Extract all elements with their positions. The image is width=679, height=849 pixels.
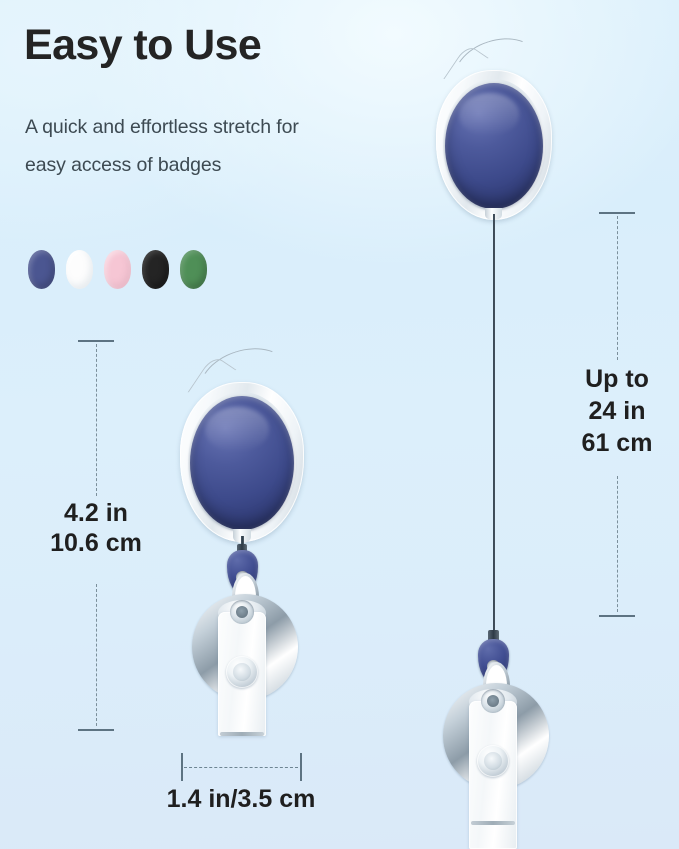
width-measurement-guide	[181, 767, 301, 768]
height-guide-cap-bottom	[78, 729, 114, 731]
clip-bottom-lip	[471, 821, 515, 825]
retractable-cord	[493, 214, 495, 638]
clip-bottom-lip	[220, 732, 264, 736]
page-subtitle: A quick and effortless stretch for easy …	[25, 108, 305, 184]
color-swatch-pink[interactable]	[104, 250, 131, 289]
reel-body-lens	[445, 83, 543, 209]
height-guide-line-lower	[96, 584, 97, 726]
color-swatch-green[interactable]	[180, 250, 207, 289]
color-swatch-black[interactable]	[142, 250, 169, 289]
height-label-inches: 4.2 in	[16, 498, 176, 528]
height-guide-line-upper	[96, 344, 97, 496]
lens-highlight	[459, 93, 520, 136]
height-measurement-label: 4.2 in 10.6 cm	[16, 498, 176, 558]
width-guide-cap-left	[181, 753, 183, 781]
extension-guide-cap-bottom	[599, 615, 635, 617]
width-guide-cap-right	[300, 753, 302, 781]
height-guide-cap-top	[78, 340, 114, 342]
clip-rivet-inner	[233, 663, 251, 681]
product-infographic: Easy to Use A quick and effortless stret…	[0, 0, 679, 849]
clip-grommet-hole	[236, 606, 248, 618]
badge-reel-extended[interactable]	[424, 36, 568, 849]
lens-highlight	[205, 407, 269, 453]
page-title: Easy to Use	[24, 24, 261, 67]
clip-grommet-hole	[487, 695, 499, 707]
width-guide-line	[184, 767, 298, 768]
extension-guide-line-upper	[617, 216, 618, 360]
extension-guide-line-lower	[617, 476, 618, 612]
reel-body-lens	[190, 396, 294, 530]
color-swatch-navy-blue[interactable]	[28, 250, 55, 289]
clip-rivet-inner	[484, 752, 502, 770]
color-swatch-list	[28, 250, 207, 289]
extension-guide-cap-top	[599, 212, 635, 214]
color-swatch-white[interactable]	[66, 250, 93, 289]
height-label-cm: 10.6 cm	[16, 528, 176, 558]
badge-reel-retracted[interactable]	[168, 344, 316, 744]
width-measurement-label: 1.4 in/3.5 cm	[161, 785, 321, 814]
